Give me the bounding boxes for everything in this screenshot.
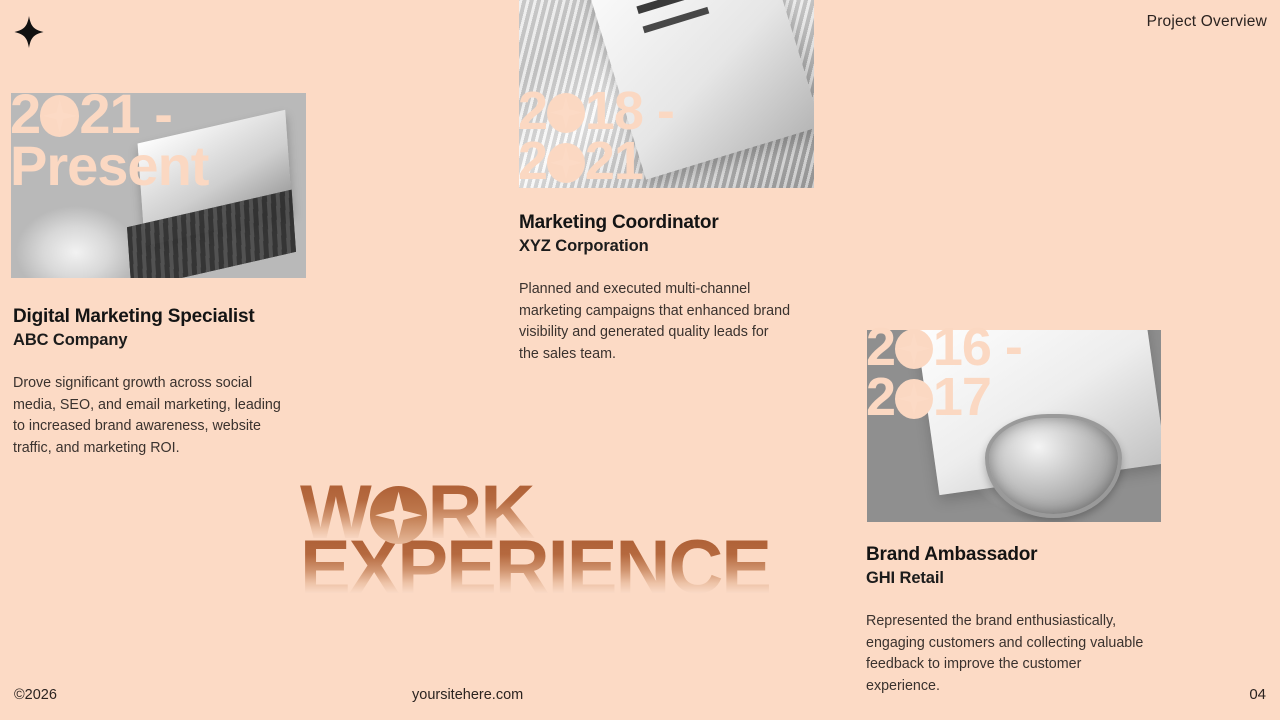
jewellery-magazine-photo <box>867 330 1161 522</box>
page-title-line-1: WRK <box>300 483 940 544</box>
laptop-desk-photo <box>11 93 306 278</box>
entry-role: Digital Marketing Specialist <box>13 306 293 328</box>
entry-description: Planned and executed multi-channel marke… <box>519 279 791 366</box>
header-label: Project Overview <box>1147 13 1267 31</box>
experience-entry-middle: Marketing Coordinator XYZ Corporation Pl… <box>519 212 791 366</box>
page-title: WRK EXPERIENCE <box>300 483 940 597</box>
entry-description: Represented the brand enthusiastically, … <box>866 611 1156 698</box>
footer-page-number: 04 <box>1249 686 1266 703</box>
entry-company: GHI Retail <box>866 569 1156 588</box>
entry-photo-middle <box>519 0 814 188</box>
magazine-flatlay-photo <box>519 0 814 188</box>
entry-role: Brand Ambassador <box>866 544 1156 566</box>
entry-company: XYZ Corporation <box>519 237 791 256</box>
entry-company: ABC Company <box>13 331 293 350</box>
entry-photo-right <box>867 330 1161 522</box>
experience-entry-left: Digital Marketing Specialist ABC Company… <box>13 306 293 460</box>
page-title-line-2: EXPERIENCE <box>300 538 940 597</box>
entry-description: Drove significant growth across social m… <box>13 373 293 460</box>
footer-copyright: ©2026 <box>14 687 57 703</box>
footer-website[interactable]: yoursitehere.com <box>412 687 523 703</box>
entry-role: Marketing Coordinator <box>519 212 791 234</box>
sparkle-icon <box>14 16 44 48</box>
slide-work-experience: Project Overview 221 -Present Digital Ma… <box>0 0 1280 720</box>
entry-photo-left <box>11 93 306 278</box>
experience-entry-right: Brand Ambassador GHI Retail Represented … <box>866 544 1156 698</box>
star-o-icon <box>370 486 428 544</box>
